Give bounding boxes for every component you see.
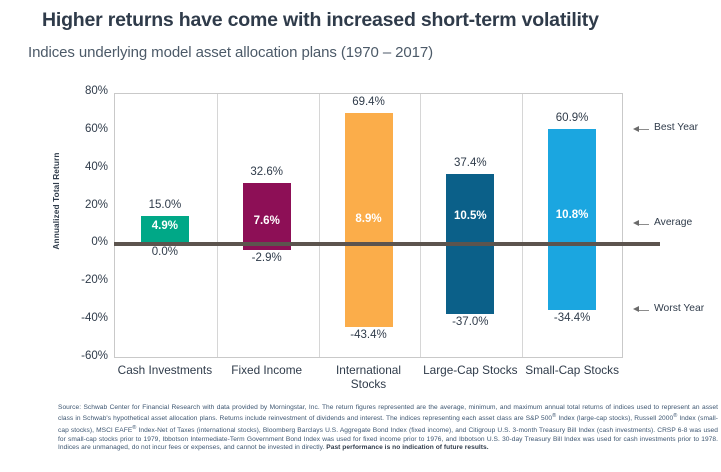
y-axis-tick-label: 0% bbox=[58, 236, 108, 248]
page-subtitle: Indices underlying model asset allocatio… bbox=[28, 44, 688, 61]
bar-best-year-label: 32.6% bbox=[207, 166, 327, 178]
y-axis-tick-label: 60% bbox=[58, 123, 108, 135]
annotation-leader-line bbox=[639, 310, 649, 311]
footnote-text-b: Index (large-cap stocks), Russell 2000 bbox=[556, 416, 673, 423]
bar-best-year-label: 37.4% bbox=[410, 157, 530, 169]
annotation-label-best-year: Best Year bbox=[654, 122, 698, 133]
bar-worst-year-label: -43.4% bbox=[309, 329, 429, 341]
annotation-label-average: Average bbox=[654, 217, 692, 228]
annotation-leader-line bbox=[639, 129, 649, 130]
x-axis-label-line: Stocks bbox=[309, 377, 429, 391]
bar-average-label: 10.8% bbox=[548, 209, 596, 221]
bar-average-label: 7.6% bbox=[243, 215, 291, 227]
annotation-arrow-icon bbox=[633, 306, 639, 312]
annotation-label-worst-year: Worst Year bbox=[654, 303, 704, 314]
bar-best-year-label: 15.0% bbox=[105, 199, 225, 211]
annotation-arrow-icon bbox=[633, 220, 639, 226]
bar-international-stocks[interactable]: 8.9% bbox=[345, 113, 393, 327]
y-axis-tick-label: -20% bbox=[58, 274, 108, 286]
bar-cash-investments[interactable]: 4.9% bbox=[141, 216, 189, 244]
bar-best-year-label: 69.4% bbox=[309, 96, 429, 108]
x-axis-label-small-cap-stocks: Small-Cap Stocks bbox=[512, 363, 632, 377]
bar-fixed-income[interactable]: 7.6% bbox=[243, 183, 291, 250]
y-axis-tick-label: 40% bbox=[58, 161, 108, 173]
page-title: Higher returns have come with increased … bbox=[42, 9, 702, 32]
bar-small-cap-stocks[interactable]: 10.8% bbox=[548, 129, 596, 309]
y-axis-tick-label: 80% bbox=[58, 85, 108, 97]
y-axis-tick-label: -40% bbox=[58, 312, 108, 324]
y-axis-tick-label: 20% bbox=[58, 199, 108, 211]
y-axis-tick-label: -60% bbox=[58, 350, 108, 362]
annotation-leader-line bbox=[639, 224, 649, 225]
bar-average-label: 10.5% bbox=[446, 210, 494, 222]
category-divider bbox=[319, 94, 320, 357]
bar-average-label: 4.9% bbox=[141, 220, 189, 232]
bar-best-year-label: 60.9% bbox=[512, 112, 632, 124]
category-divider bbox=[217, 94, 218, 357]
footnote-bold-disclaimer: Past performance is no indication of fut… bbox=[326, 444, 488, 451]
annotation-arrow-icon bbox=[633, 126, 639, 132]
zero-baseline bbox=[114, 242, 660, 246]
footnote: Source: Schwab Center for Financial Rese… bbox=[58, 404, 718, 453]
bar-worst-year-label: -2.9% bbox=[207, 252, 327, 264]
bar-worst-year-label: -34.4% bbox=[512, 312, 632, 324]
chart-page: Higher returns have come with increased … bbox=[0, 0, 721, 472]
bar-average-label: 8.9% bbox=[345, 213, 393, 225]
x-axis-label-line: Small-Cap Stocks bbox=[512, 363, 632, 377]
